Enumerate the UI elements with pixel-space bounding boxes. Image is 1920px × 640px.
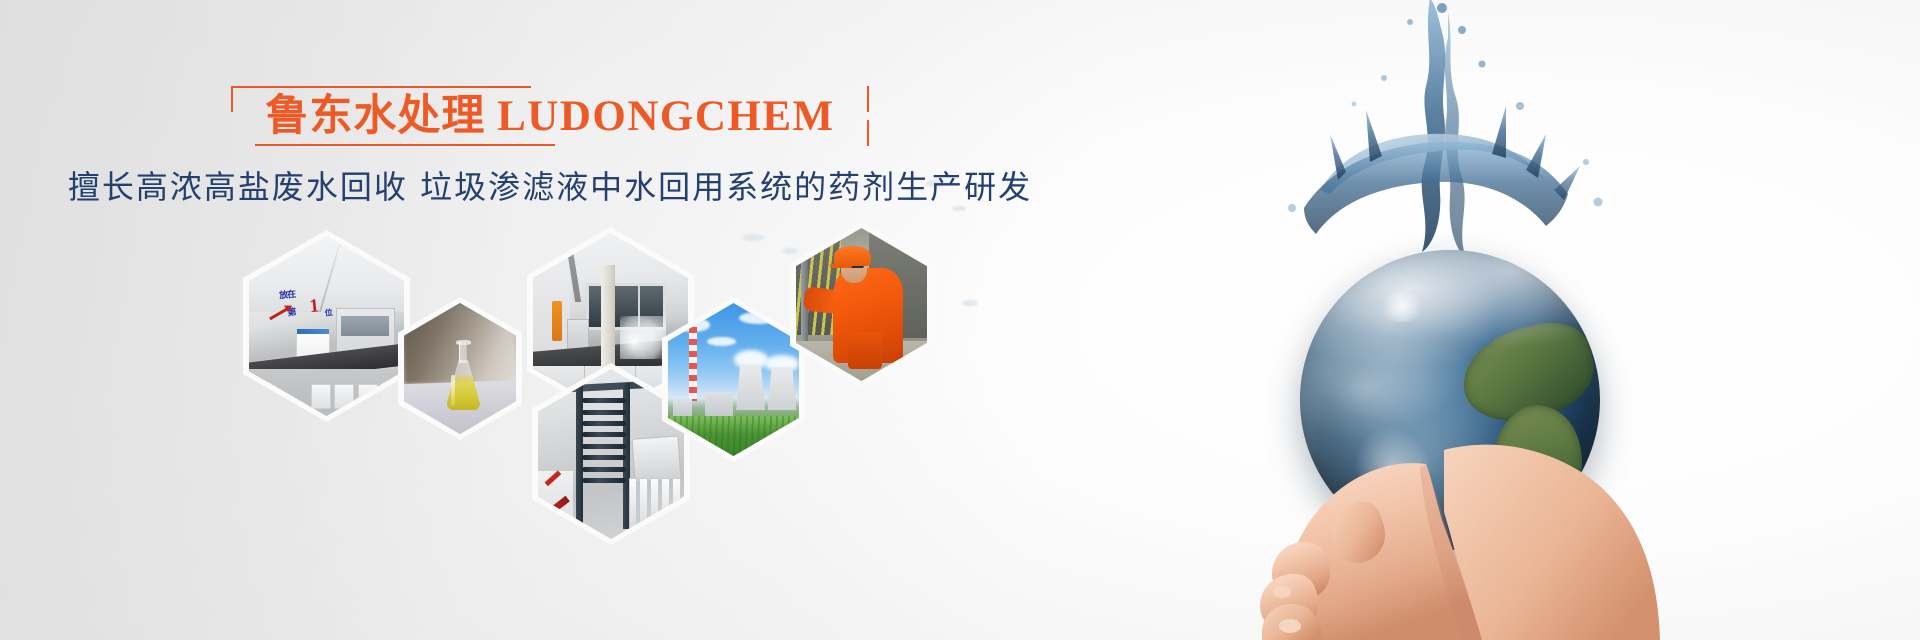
- flask-shape: [447, 342, 481, 410]
- orange-object-shape: [552, 301, 563, 341]
- hard-hat-icon: [834, 246, 871, 266]
- drum-shape: [311, 384, 331, 409]
- pipe-coil-shape: [582, 396, 626, 491]
- cloud-shape: [707, 337, 736, 346]
- plant-building-shape: [673, 399, 691, 416]
- hex-tile-yellow-reagent[interactable]: [398, 297, 522, 440]
- hex-image-yellow-reagent: [404, 303, 516, 434]
- column-shape: [601, 265, 615, 380]
- hex-image-lab-workshop: 放在 第 1 位: [249, 236, 404, 416]
- plant-building-shape: [705, 392, 734, 416]
- hex-image-power-plant: [668, 303, 799, 456]
- cupped-hands: [1230, 392, 1660, 640]
- pressure-vessel-shape: [631, 435, 681, 482]
- globe-specular: [1378, 292, 1426, 322]
- chimney-stack-shape: [689, 327, 697, 400]
- wall-shape: [533, 233, 570, 363]
- drum-shape: [358, 384, 378, 409]
- hero-banner: 鲁东水处理 LUDONGCHEM 擅长高浓高盐废水回收 垃圾渗滤液中水回用系统的…: [0, 0, 1920, 640]
- brand-title-frame: 鲁东水处理 LUDONGCHEM: [231, 86, 868, 144]
- leg-shape: [848, 332, 882, 369]
- underline-rule: [255, 144, 555, 146]
- wall-slogan-text: 放在 第 1 位: [261, 282, 346, 337]
- hex-tile-worker[interactable]: [790, 222, 933, 387]
- page-subtitle: 擅长高浓高盐废水回收 垃圾渗滤液中水回用系统的药剂生产研发: [0, 162, 1100, 208]
- cooling-tower-shape: [768, 367, 797, 410]
- water-globe-artwork: [1182, 0, 1742, 640]
- hex-image-worker: [796, 228, 927, 381]
- headline-block: 鲁东水处理 LUDONGCHEM 擅长高浓高盐废水回收 垃圾渗滤液中水回用系统的…: [0, 86, 1100, 208]
- brand-name-en: LUDONGCHEM: [497, 93, 835, 140]
- bracket-top-left: [231, 86, 531, 112]
- cloud-shape: [739, 312, 778, 324]
- bracket-bottom-right: [851, 120, 869, 146]
- drum-shape: [334, 384, 354, 409]
- glassware-shape: [620, 316, 667, 359]
- bracket-top-right: [851, 86, 869, 112]
- water-foam-layer: [1300, 250, 1600, 382]
- hex-tile-lab-workshop[interactable]: 放在 第 1 位: [243, 230, 410, 422]
- membrane-tubes-shape: [629, 478, 682, 529]
- cooling-tower-shape: [736, 364, 765, 410]
